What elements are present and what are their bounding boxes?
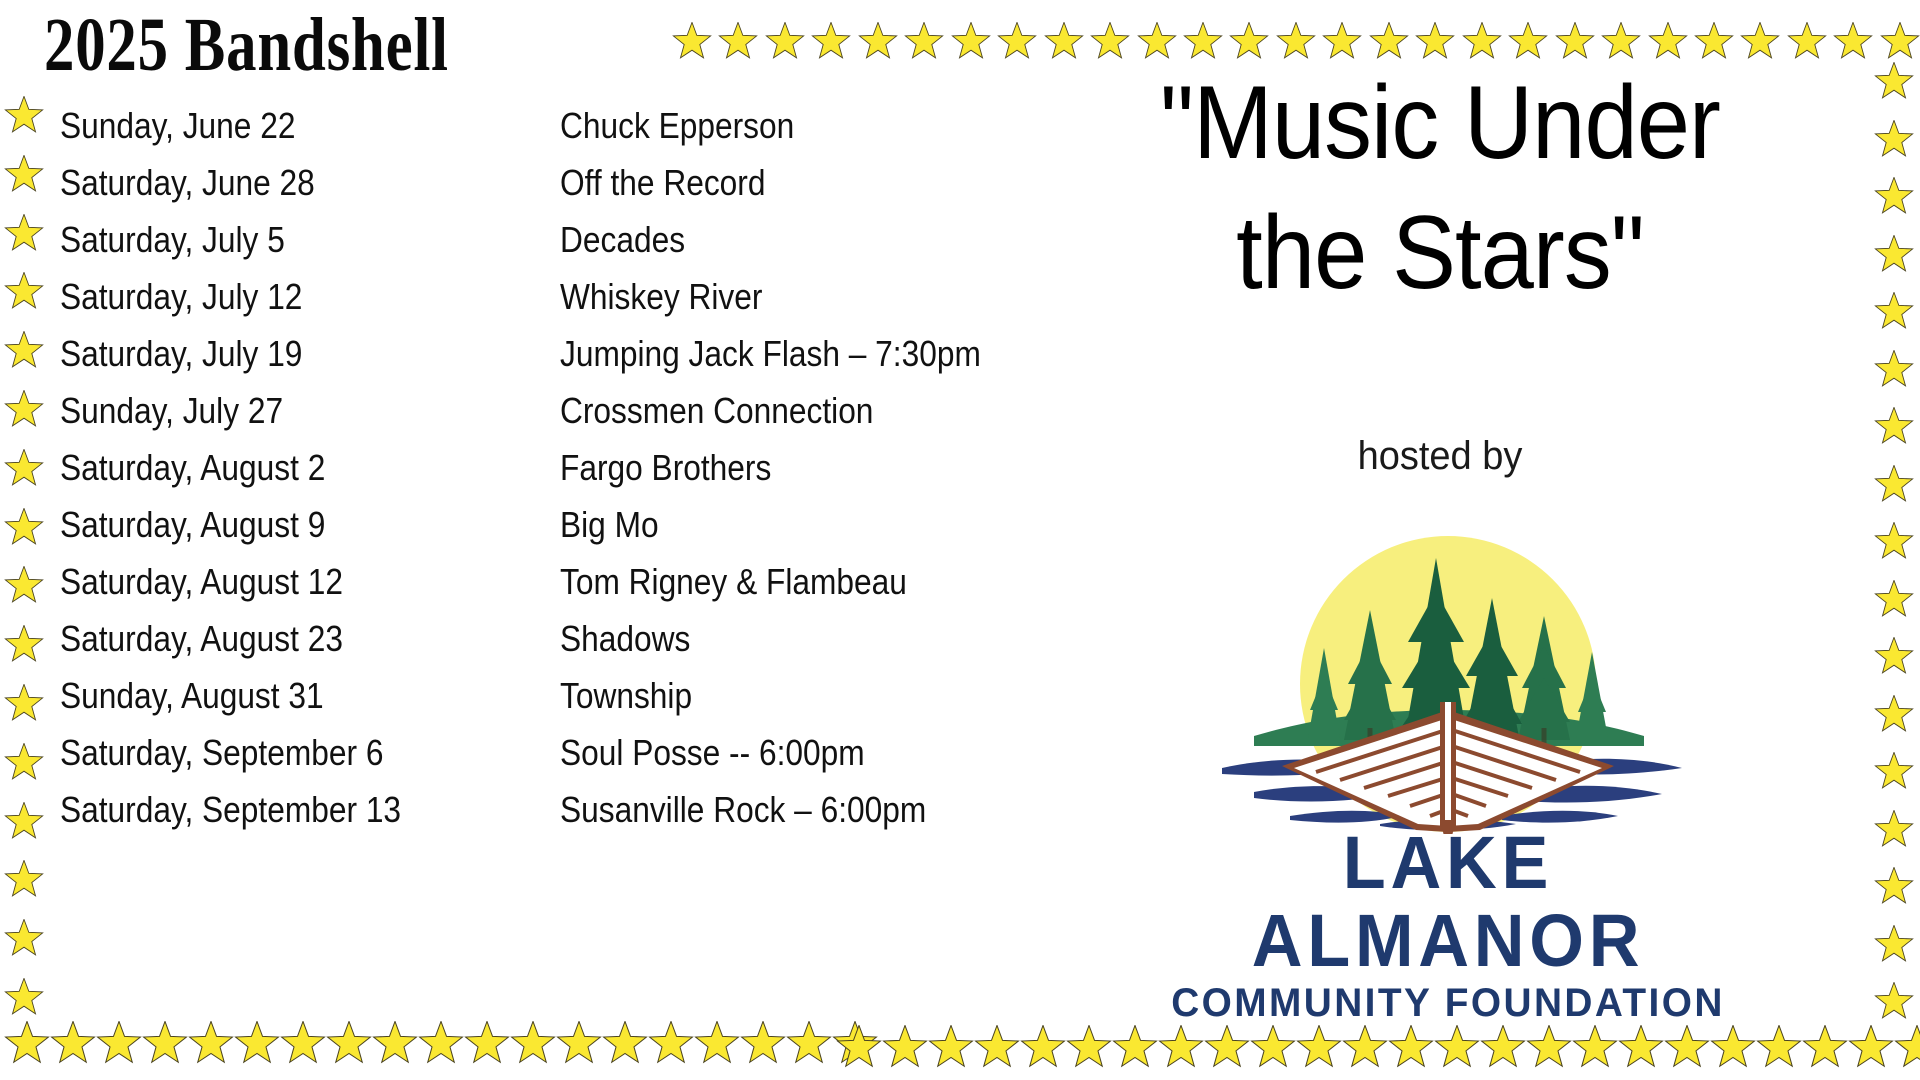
star-icon xyxy=(1694,22,1734,62)
star-icon xyxy=(882,1025,928,1071)
schedule-act: Crossmen Connection xyxy=(560,391,1053,431)
star-icon xyxy=(1480,1025,1526,1071)
star-icon xyxy=(372,1021,418,1067)
star-icon xyxy=(4,743,44,783)
star-icon xyxy=(50,1021,96,1067)
star-icon xyxy=(694,1021,740,1067)
star-icon xyxy=(1250,1025,1296,1071)
star-icon xyxy=(4,802,44,842)
schedule-act: Tom Rigney & Flambeau xyxy=(560,562,1053,602)
star-icon xyxy=(1322,22,1362,62)
schedule-row: Saturday, September 6Soul Posse -- 6:00p… xyxy=(60,733,1120,790)
star-icon xyxy=(1388,1025,1434,1071)
star-icon xyxy=(718,22,758,62)
logo-subtitle: COMMUNITY FOUNDATION xyxy=(1167,980,1730,1026)
star-icon xyxy=(1874,407,1914,447)
schedule-date: Saturday, July 19 xyxy=(60,334,500,374)
star-icon xyxy=(765,22,805,62)
schedule-date: Saturday, August 23 xyxy=(60,619,500,659)
schedule-act: Chuck Epperson xyxy=(560,106,1053,146)
star-icon xyxy=(786,1021,832,1067)
star-icon xyxy=(1066,1025,1112,1071)
schedule-act: Big Mo xyxy=(560,505,1053,545)
title-block: 2025 Bandshell xyxy=(44,6,664,84)
star-icon xyxy=(1508,22,1548,62)
star-icon xyxy=(4,508,44,548)
schedule-date: Sunday, June 22 xyxy=(60,106,500,146)
schedule-date: Sunday, August 31 xyxy=(60,676,500,716)
star-icon xyxy=(1848,1025,1894,1071)
star-icon xyxy=(142,1021,188,1067)
schedule-row: Saturday, July 12Whiskey River xyxy=(60,277,1120,334)
star-icon xyxy=(1756,1025,1802,1071)
star-icon xyxy=(4,978,44,1018)
star-icon xyxy=(1874,120,1914,160)
star-icon xyxy=(4,449,44,489)
star-icon xyxy=(1434,1025,1480,1071)
star-border-right xyxy=(1872,62,1916,1022)
star-icon xyxy=(1874,292,1914,332)
schedule-row: Saturday, August 23Shadows xyxy=(60,619,1120,676)
star-icon xyxy=(811,22,851,62)
star-icon xyxy=(464,1021,510,1067)
schedule-date: Sunday, July 27 xyxy=(60,391,500,431)
schedule-date: Saturday, June 28 xyxy=(60,163,500,203)
star-icon xyxy=(1276,22,1316,62)
star-icon xyxy=(951,22,991,62)
schedule-date: Saturday, August 9 xyxy=(60,505,500,545)
star-icon xyxy=(1874,580,1914,620)
schedule-date: Saturday, September 13 xyxy=(60,790,500,830)
lake-boat-trees-sun-icon xyxy=(1158,524,1738,834)
star-border-bottom-left xyxy=(4,1018,824,1070)
star-icon xyxy=(1874,522,1914,562)
star-icon xyxy=(4,96,44,136)
star-icon xyxy=(418,1021,464,1067)
star-icon xyxy=(1874,350,1914,390)
schedule-row: Saturday, August 12Tom Rigney & Flambeau xyxy=(60,562,1120,619)
star-icon xyxy=(1648,22,1688,62)
headline-line-2: the Stars" xyxy=(1054,188,1827,318)
star-icon xyxy=(1296,1025,1342,1071)
star-icon xyxy=(188,1021,234,1067)
star-icon xyxy=(1462,22,1502,62)
star-icon xyxy=(740,1021,786,1067)
star-icon xyxy=(1894,1025,1920,1071)
sponsor-logo: LAKE ALMANOR COMMUNITY FOUNDATION xyxy=(1158,524,1738,970)
star-icon xyxy=(1874,62,1914,102)
star-icon xyxy=(904,22,944,62)
star-icon xyxy=(1787,22,1827,62)
star-icon xyxy=(1137,22,1177,62)
star-icon xyxy=(1415,22,1455,62)
star-icon xyxy=(1740,22,1780,62)
star-icon xyxy=(4,214,44,254)
star-icon xyxy=(1874,982,1914,1022)
star-icon xyxy=(1183,22,1223,62)
star-icon xyxy=(1874,867,1914,907)
star-border-left xyxy=(2,96,46,1018)
schedule-date: Saturday, August 2 xyxy=(60,448,500,488)
schedule-act: Whiskey River xyxy=(560,277,1053,317)
event-headline: "Music Under the Stars" xyxy=(1020,58,1860,318)
star-icon xyxy=(1555,22,1595,62)
logo-name: LAKE ALMANOR xyxy=(1173,824,1724,980)
star-icon xyxy=(4,331,44,371)
star-icon xyxy=(1710,1025,1756,1071)
schedule-row: Sunday, June 22Chuck Epperson xyxy=(60,106,1120,163)
star-icon xyxy=(1112,1025,1158,1071)
star-icon xyxy=(234,1021,280,1067)
star-icon xyxy=(1874,925,1914,965)
star-icon xyxy=(672,22,712,62)
star-icon xyxy=(4,860,44,900)
star-icon xyxy=(4,566,44,606)
star-icon xyxy=(1664,1025,1710,1071)
star-icon xyxy=(1874,637,1914,677)
poster-canvas: 2025 Bandshell Sunday, June 22Chuck Eppe… xyxy=(0,0,1920,1080)
star-icon xyxy=(556,1021,602,1067)
star-icon xyxy=(1833,22,1873,62)
star-icon xyxy=(510,1021,556,1067)
star-icon xyxy=(1229,22,1269,62)
star-icon xyxy=(1090,22,1130,62)
star-icon xyxy=(1618,1025,1664,1071)
star-icon xyxy=(4,625,44,665)
star-icon xyxy=(1020,1025,1066,1071)
star-icon xyxy=(1874,235,1914,275)
star-icon xyxy=(1874,810,1914,850)
star-icon xyxy=(4,919,44,959)
schedule-row: Sunday, August 31Township xyxy=(60,676,1120,733)
page-title: 2025 Bandshell xyxy=(44,6,540,84)
schedule-row: Saturday, July 5Decades xyxy=(60,220,1120,277)
star-icon xyxy=(1158,1025,1204,1071)
star-icon xyxy=(280,1021,326,1067)
schedule-date: Saturday, July 5 xyxy=(60,220,500,260)
schedule-act: Fargo Brothers xyxy=(560,448,1053,488)
schedule-act: Decades xyxy=(560,220,1053,260)
schedule-date: Saturday, July 12 xyxy=(60,277,500,317)
star-icon xyxy=(4,390,44,430)
star-icon xyxy=(928,1025,974,1071)
schedule-act: Off the Record xyxy=(560,163,1053,203)
star-icon xyxy=(974,1025,1020,1071)
star-icon xyxy=(997,22,1037,62)
schedule-row: Saturday, July 19Jumping Jack Flash – 7:… xyxy=(60,334,1120,391)
headline-line-1: "Music Under xyxy=(1054,58,1827,188)
star-icon xyxy=(96,1021,142,1067)
star-icon xyxy=(1044,22,1084,62)
logo-wordmark: LAKE ALMANOR COMMUNITY FOUNDATION xyxy=(1158,824,1738,1026)
star-icon xyxy=(1874,752,1914,792)
hosted-by-label: hosted by xyxy=(1041,432,1839,480)
schedule-act: Soul Posse -- 6:00pm xyxy=(560,733,1053,773)
schedule-act: Susanville Rock – 6:00pm xyxy=(560,790,1053,830)
star-icon xyxy=(1874,695,1914,735)
star-icon xyxy=(648,1021,694,1067)
schedule-row: Sunday, July 27Crossmen Connection xyxy=(60,391,1120,448)
star-icon xyxy=(1802,1025,1848,1071)
schedule-row: Saturday, August 9Big Mo xyxy=(60,505,1120,562)
star-icon xyxy=(4,1021,50,1067)
star-icon xyxy=(858,22,898,62)
star-icon xyxy=(1526,1025,1572,1071)
star-icon xyxy=(1874,177,1914,217)
schedule-row: Saturday, August 2Fargo Brothers xyxy=(60,448,1120,505)
star-icon xyxy=(326,1021,372,1067)
star-icon xyxy=(1204,1025,1250,1071)
star-icon xyxy=(836,1025,882,1071)
schedule-row: Saturday, September 13Susanville Rock – … xyxy=(60,790,1120,847)
star-icon xyxy=(1874,465,1914,505)
star-icon xyxy=(1572,1025,1618,1071)
schedule-date: Saturday, September 6 xyxy=(60,733,500,773)
schedule-act: Township xyxy=(560,676,1053,716)
star-icon xyxy=(4,155,44,195)
schedule-act: Jumping Jack Flash – 7:30pm xyxy=(560,334,1053,374)
star-icon xyxy=(1342,1025,1388,1071)
star-icon xyxy=(4,684,44,724)
star-icon xyxy=(832,1021,878,1067)
schedule-act: Shadows xyxy=(560,619,1053,659)
star-icon xyxy=(1880,22,1920,62)
star-border-bottom-right xyxy=(836,1022,1920,1074)
star-icon xyxy=(1601,22,1641,62)
star-icon xyxy=(602,1021,648,1067)
schedule-row: Saturday, June 28Off the Record xyxy=(60,163,1120,220)
schedule-list: Sunday, June 22Chuck EppersonSaturday, J… xyxy=(60,106,1120,847)
star-icon xyxy=(4,272,44,312)
star-icon xyxy=(1369,22,1409,62)
schedule-date: Saturday, August 12 xyxy=(60,562,500,602)
